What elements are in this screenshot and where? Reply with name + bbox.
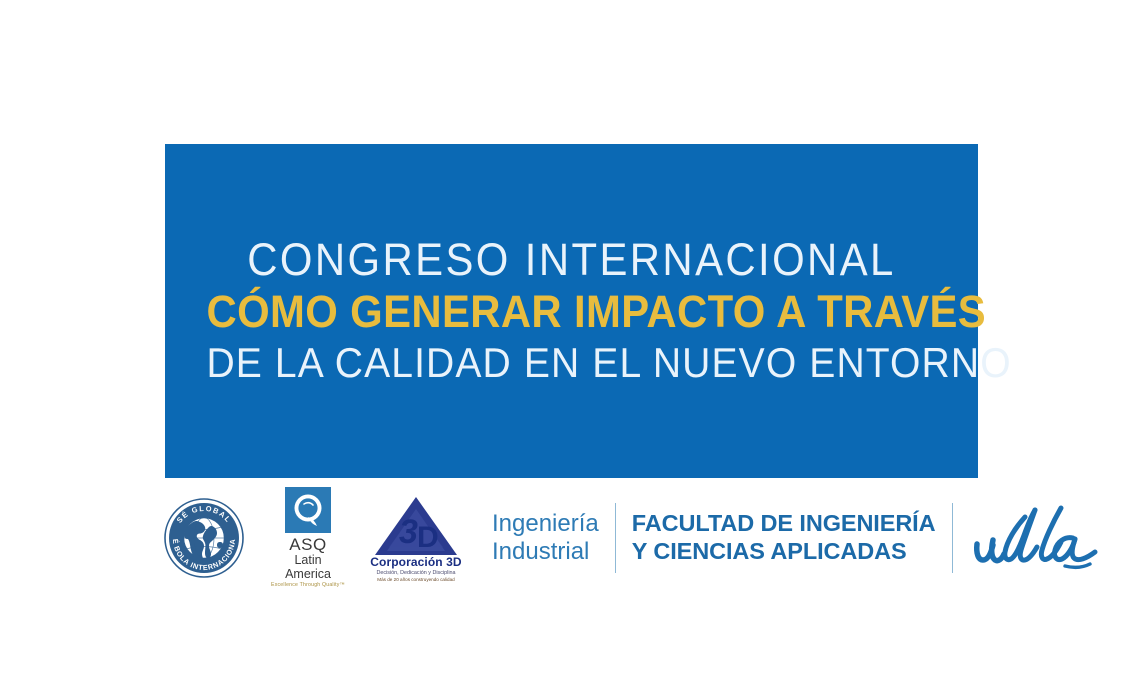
divider-1 bbox=[615, 503, 616, 573]
asq-latin-america-logo: ASQ Latin America Excellence Through Qua… bbox=[260, 487, 356, 588]
c3d-mark-d: D bbox=[417, 521, 439, 554]
corporacion-3d-logo: 3 D Corporación 3D Decisión, Dedicación … bbox=[364, 495, 468, 582]
title-line-2: CÓMO GENERAR IMPACTO A TRAVÉS bbox=[206, 286, 936, 338]
facultad-line-1: FACULTAD DE INGENIERÍA bbox=[632, 510, 936, 538]
facultad-label: FACULTAD DE INGENIERÍA Y CIENCIAS APLICA… bbox=[632, 510, 936, 565]
asq-q-mark-icon bbox=[285, 487, 331, 533]
facultad-line-2: Y CIENCIAS APLICADAS bbox=[632, 538, 936, 566]
asq-region-line1: Latin bbox=[260, 554, 356, 567]
title-line-3: DE LA CALIDAD EN EL NUEVO ENTORNO bbox=[206, 338, 936, 388]
se-global-seal-icon: SÉ GLOBAL SÉ BOLA INTERNACIONAL bbox=[162, 496, 246, 580]
c3d-name: Corporación 3D bbox=[364, 555, 468, 569]
logo-strip: SÉ GLOBAL SÉ BOLA INTERNACIONAL ASQ Lati… bbox=[160, 488, 990, 588]
asq-name: ASQ bbox=[260, 536, 356, 553]
title-banner: CONGRESO INTERNACIONAL CÓMO GENERAR IMPA… bbox=[165, 144, 978, 478]
udla-logo-icon bbox=[969, 500, 1101, 576]
asq-region-line2: America bbox=[260, 568, 356, 581]
ingenieria-line-1: Ingeniería bbox=[492, 510, 599, 538]
asq-tagline: Excellence Through Quality™ bbox=[260, 583, 356, 588]
divider-2 bbox=[952, 503, 953, 573]
c3d-tagline-2: Más de 20 años construyendo calidad bbox=[364, 577, 468, 582]
poster-canvas: CONGRESO INTERNACIONAL CÓMO GENERAR IMPA… bbox=[0, 0, 1140, 700]
title-line-1: CONGRESO INTERNACIONAL bbox=[206, 234, 936, 286]
c3d-mark-3: 3 bbox=[399, 513, 418, 551]
title-block: CONGRESO INTERNACIONAL CÓMO GENERAR IMPA… bbox=[165, 234, 978, 388]
ingenieria-industrial-label: Ingeniería Industrial bbox=[492, 510, 599, 567]
corporacion-3d-triangle-icon: 3 D bbox=[373, 495, 459, 557]
ingenieria-line-2: Industrial bbox=[492, 538, 599, 566]
c3d-tagline-1: Decisión, Dedicación y Disciplina bbox=[364, 570, 468, 576]
